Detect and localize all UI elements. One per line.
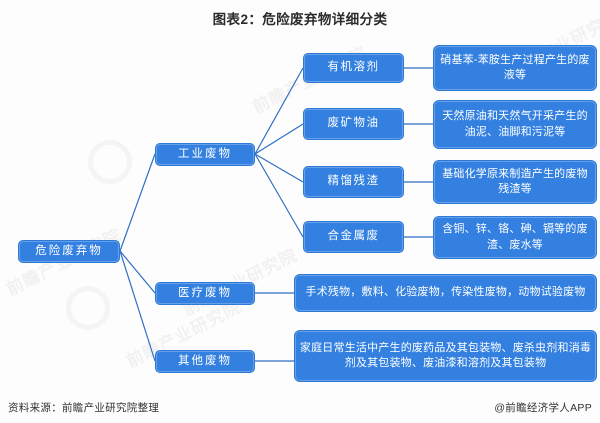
chart-title: 图表2：危险废弃物详细分类 [0,8,600,28]
node-waste-mineral-oil[interactable]: 废矿物油 [303,108,404,140]
attribution-note: @前瞻经济学人APP [494,400,592,415]
desc-waste-mineral-oil[interactable]: 天然原油和天然气开采产生的油泥、油脚和污泥等 [433,100,597,149]
watermark-text: 前瞻产业研究院 [177,241,301,320]
desc-distillation-residue[interactable]: 基础化学原来制造产生的废物残渣等 [433,160,597,204]
node-root[interactable]: 危险废弃物 [18,240,120,263]
desc-alloy-metal-waste[interactable]: 含铜、锌、铬、砷、镉等的废渣、废水等 [433,216,597,259]
watermark-ring [88,140,132,184]
diagram-page: 前瞻产业研究院 前瞻产业研究院 前瞻产业研究院 前瞻产业研究院 前瞻产业研究院 … [0,0,600,423]
node-distillation-residue[interactable]: 精馏残渣 [303,166,404,198]
node-alloy-metal-waste[interactable]: 合金属废 [303,221,404,253]
source-note: 资料来源：前瞻产业研究院整理 [8,400,159,415]
node-medical-waste[interactable]: 医疗废物 [155,282,255,305]
node-industrial-waste[interactable]: 工业废物 [155,143,255,166]
node-other-waste[interactable]: 其他废物 [155,350,255,373]
watermark-ring [66,286,110,330]
node-organic-solvent[interactable]: 有机溶剂 [303,53,404,83]
desc-medical-waste[interactable]: 手术残物，敷料、化验废物，传染性废物，动物试验废物 [294,274,597,312]
desc-organic-solvent[interactable]: 硝基苯-苯胺生产过程产生的废液等 [433,45,597,91]
desc-other-waste[interactable]: 家庭日常生活中产生的废药品及其包装物、废杀虫剂和消毒剂及其包装物、废油漆和溶剂及… [294,330,597,382]
